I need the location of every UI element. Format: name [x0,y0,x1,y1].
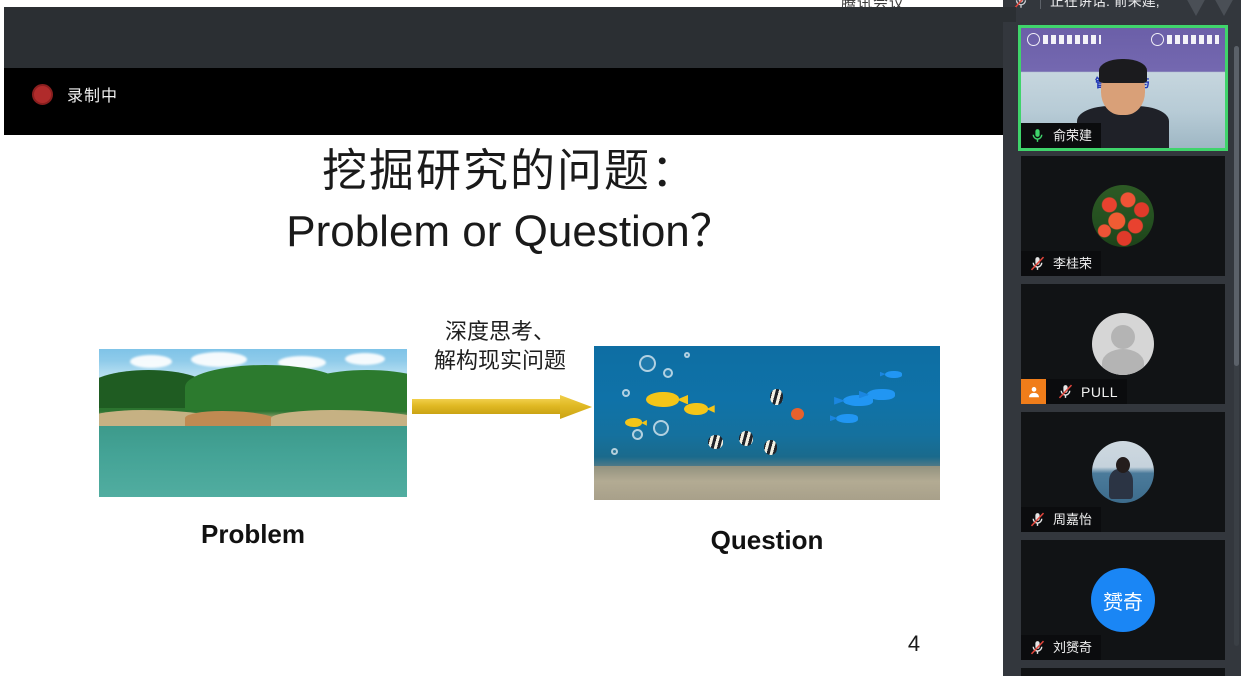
participant-tile[interactable]: 赟奇 刘赟奇 [1021,540,1225,660]
caption-question: Question [594,525,940,556]
slide-title-chinese: 挖掘研究的问题： [4,145,1016,197]
participant-nameplate: PULL [1021,379,1127,404]
speaking-label: 正在讲话: 俞荣建, [1050,0,1160,10]
slide-title-english: Problem or Question？ [4,207,1016,258]
presentation-slide: 挖掘研究的问题： Problem or Question？ 深度思考、 解构现实… [4,135,1016,676]
participant-tile[interactable]: 周嘉怡 [1021,412,1225,532]
participant-name: 刘赟奇 [1053,641,1092,654]
participant-rail[interactable]: 管理 式与 俞荣建 [1003,22,1241,676]
rail-scrollbar[interactable] [1234,46,1239,646]
meeting-window: 腾讯会议 正在讲话: 俞荣建, 录制中 [0,0,1241,676]
institute-wordmark [1167,35,1219,44]
avatar [1092,185,1154,247]
mic-muted-icon[interactable] [1028,254,1047,273]
avatar: 赟奇 [1091,568,1155,632]
arrow-caption: 深度思考、 解构现实问题 [400,318,600,376]
participant-tile[interactable]: 李桂荣 [1021,156,1225,276]
mic-on-icon[interactable] [1028,126,1047,145]
active-speaker-indicator: 正在讲话: 俞荣建, [1012,0,1160,11]
institute-seal-icon [1151,33,1164,46]
host-person-icon [1021,379,1046,404]
participant-name: 周嘉怡 [1053,513,1092,526]
underwater-fish-photo [594,346,940,500]
recording-banner: 录制中 [4,68,1016,135]
participant-tile[interactable] [1021,668,1225,676]
maximize-icon[interactable] [1213,0,1235,16]
arrow-caption-line1: 深度思考、 [400,318,600,347]
shared-screen-stage: 录制中 挖掘研究的问题： Problem or Question？ [0,7,1016,676]
caption-problem: Problem [99,519,407,550]
mic-muted-icon[interactable] [1028,638,1047,657]
university-seal-icon [1027,33,1040,46]
mic-muted-icon[interactable] [1028,510,1047,529]
participant-nameplate: 周嘉怡 [1021,507,1101,532]
mic-muted-icon[interactable] [1056,382,1075,401]
participant-name: 俞荣建 [1053,129,1092,142]
university-wordmark [1043,35,1101,44]
separator [1040,0,1041,9]
participant-nameplate: 李桂荣 [1021,251,1101,276]
participant-tile[interactable]: PULL [1021,284,1225,404]
participant-name: 李桂荣 [1053,257,1092,270]
recording-label: 录制中 [67,82,118,106]
rail-scrollbar-thumb [1234,46,1239,366]
record-dot-icon [32,84,53,105]
reservoir-photo [99,349,407,497]
participant-tile[interactable]: 管理 式与 俞荣建 [1021,28,1225,148]
minimize-icon[interactable] [1185,0,1207,16]
participant-nameplate: 俞荣建 [1021,123,1101,148]
slide-page-number: 4 [884,631,944,657]
participant-name: PULL [1081,385,1118,399]
stage-toolbar-area [4,7,1016,68]
participant-nameplate: 刘赟奇 [1021,635,1101,660]
avatar [1092,313,1154,375]
avatar [1092,441,1154,503]
avatar-initials: 赟奇 [1103,586,1143,615]
window-controls[interactable] [1185,0,1235,16]
arrow-caption-line2: 解构现实问题 [400,347,600,376]
right-arrow-icon [412,395,592,417]
